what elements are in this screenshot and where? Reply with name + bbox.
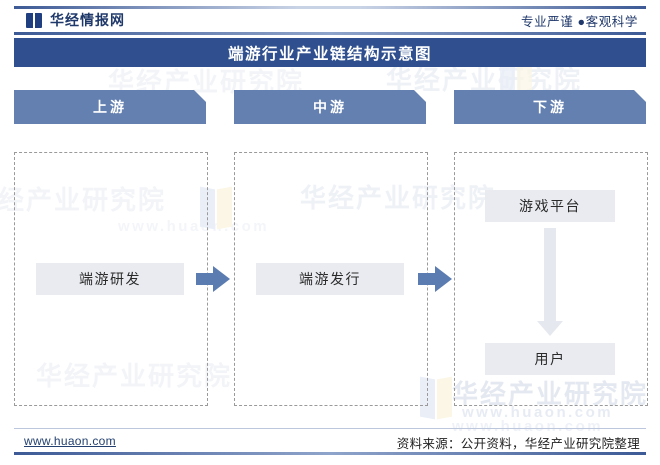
header-top-rule bbox=[14, 6, 646, 9]
column-header-label: 中游 bbox=[313, 97, 347, 117]
column-header-midstream: 中游 bbox=[234, 90, 426, 124]
node-upstream-rd[interactable]: 端游研发 bbox=[36, 263, 184, 295]
page-title: 端游行业产业链结构示意图 bbox=[228, 42, 432, 64]
brand-block: 华经情报网 bbox=[26, 10, 125, 30]
arrow-right-icon bbox=[196, 266, 230, 292]
arrow-right-icon bbox=[418, 266, 452, 292]
footer-top-rule bbox=[14, 428, 646, 429]
column-header-downstream: 下游 bbox=[454, 90, 646, 124]
node-downstream-platform[interactable]: 游戏平台 bbox=[485, 190, 615, 222]
open-book-icon bbox=[26, 13, 43, 28]
node-label: 用户 bbox=[535, 349, 566, 369]
column-header-label: 上游 bbox=[93, 97, 127, 117]
chart-title-bar: 端游行业产业链结构示意图 bbox=[14, 38, 646, 67]
diagram-stage: 上游 中游 下游 端游研发 端游发行 游戏平台 bbox=[0, 0, 660, 465]
node-label: 端游研发 bbox=[79, 269, 141, 289]
node-label: 端游发行 bbox=[299, 269, 361, 289]
brand-header: 华经情报网 专业严谨 ●客观科学 bbox=[14, 6, 646, 34]
arrow-down-icon bbox=[537, 228, 563, 336]
header-bottom-rule bbox=[14, 32, 646, 35]
node-midstream-publish[interactable]: 端游发行 bbox=[256, 263, 404, 295]
node-label: 游戏平台 bbox=[519, 196, 581, 216]
column-header-upstream: 上游 bbox=[14, 90, 206, 124]
brand-name: 华经情报网 bbox=[50, 10, 125, 30]
footer-source-note: 资料来源：公开资料，华经产业研究院整理 bbox=[397, 433, 640, 452]
footer-bottom-rule bbox=[14, 452, 646, 455]
footer-site-link[interactable]: www.huaon.com bbox=[24, 434, 116, 448]
page-footer: www.huaon.com 资料来源：公开资料，华经产业研究院整理 bbox=[14, 428, 646, 454]
brand-slogan: 专业严谨 ●客观科学 bbox=[521, 11, 638, 30]
node-downstream-user[interactable]: 用户 bbox=[485, 343, 615, 375]
column-header-label: 下游 bbox=[533, 97, 567, 117]
infographic-page: 华经产业研究院 华经产业研究院 华经产业研究院 华经产业研究院 华经产业研究院 … bbox=[0, 0, 660, 465]
